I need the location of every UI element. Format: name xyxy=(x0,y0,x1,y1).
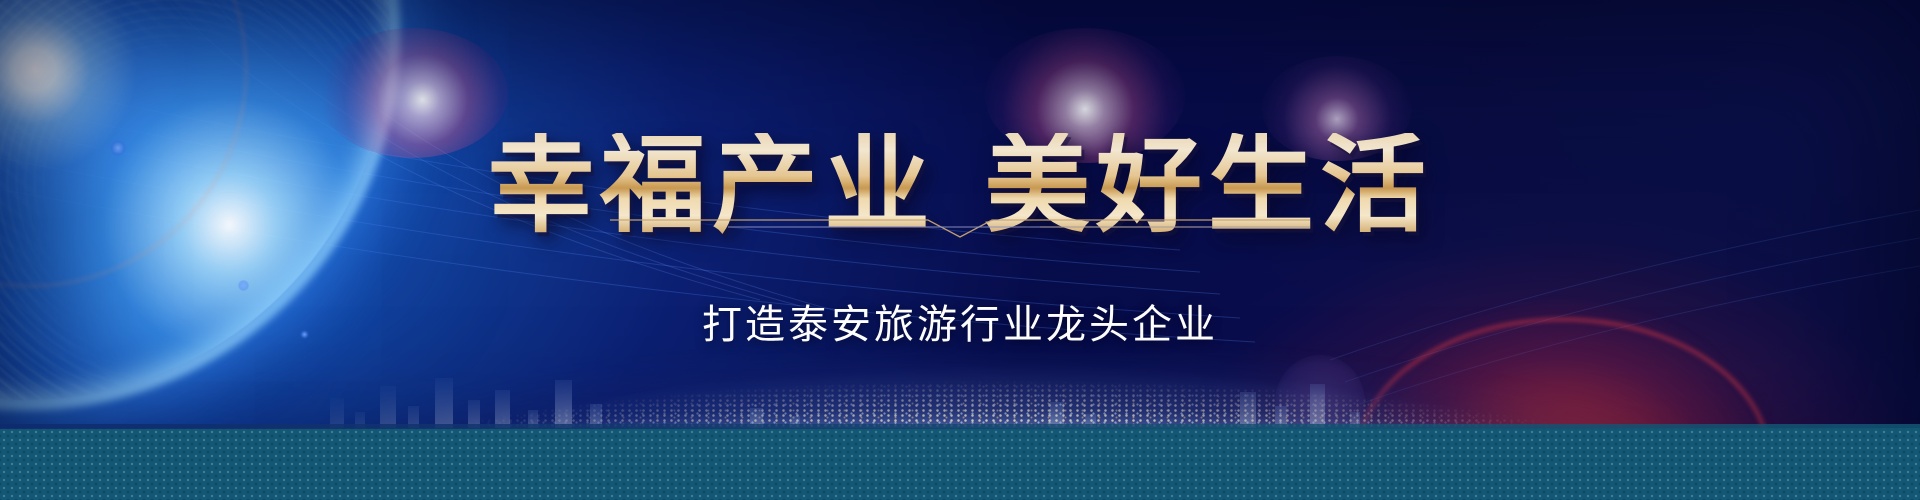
lens-flare-dot xyxy=(238,280,249,291)
hero-banner: 幸福产业美好生活 打造泰安旅游行业龙头企业 xyxy=(0,0,1920,500)
gold-chevron-divider xyxy=(610,207,1310,241)
teal-dotted-bottom-bar xyxy=(0,428,1920,500)
banner-subtitle: 打造泰安旅游行业龙头企业 xyxy=(0,302,1920,348)
